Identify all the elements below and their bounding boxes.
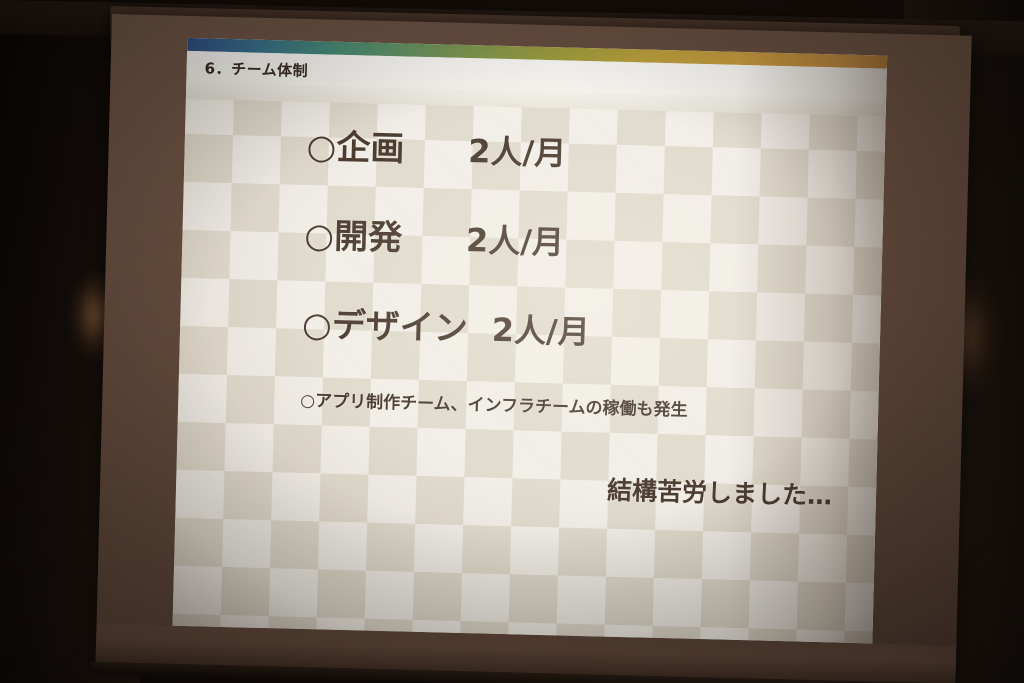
screen-fabric: 6．チーム体制 ○企画 2人/月 ○開発 2人/月 ○デザイン 2人/月 — [96, 14, 972, 683]
list-item-value: 2人/月 — [491, 305, 590, 353]
projection-screen: 6．チーム体制 ○企画 2人/月 ○開発 2人/月 ○デザイン 2人/月 — [95, 14, 971, 683]
list-item-label: ○開発 — [304, 208, 403, 259]
room-scene: 6．チーム体制 ○企画 2人/月 ○開発 2人/月 ○デザイン 2人/月 — [0, 0, 1024, 683]
list-item-label: ○企画 — [306, 119, 405, 170]
list-item: ○開発 2人/月 — [304, 208, 883, 272]
page-title: 6．チーム体制 — [204, 57, 308, 81]
slide-note: ○アプリ制作チーム、インフラチームの稼働も発生 — [300, 386, 878, 426]
list-item: ○デザイン 2人/月 — [302, 297, 881, 361]
projected-slide: 6．チーム体制 ○企画 2人/月 ○開発 2人/月 ○デザイン 2人/月 — [173, 38, 888, 644]
slide-closing-remark: 結構苦労しました… — [176, 460, 833, 513]
list-item-value: 2人/月 — [466, 215, 565, 263]
slide-content: ○企画 2人/月 ○開発 2人/月 ○デザイン 2人/月 ○アプリ制作チーム、イ… — [173, 116, 886, 644]
list-item-label: ○デザイン — [302, 297, 469, 350]
list-item-value: 2人/月 — [468, 126, 567, 174]
